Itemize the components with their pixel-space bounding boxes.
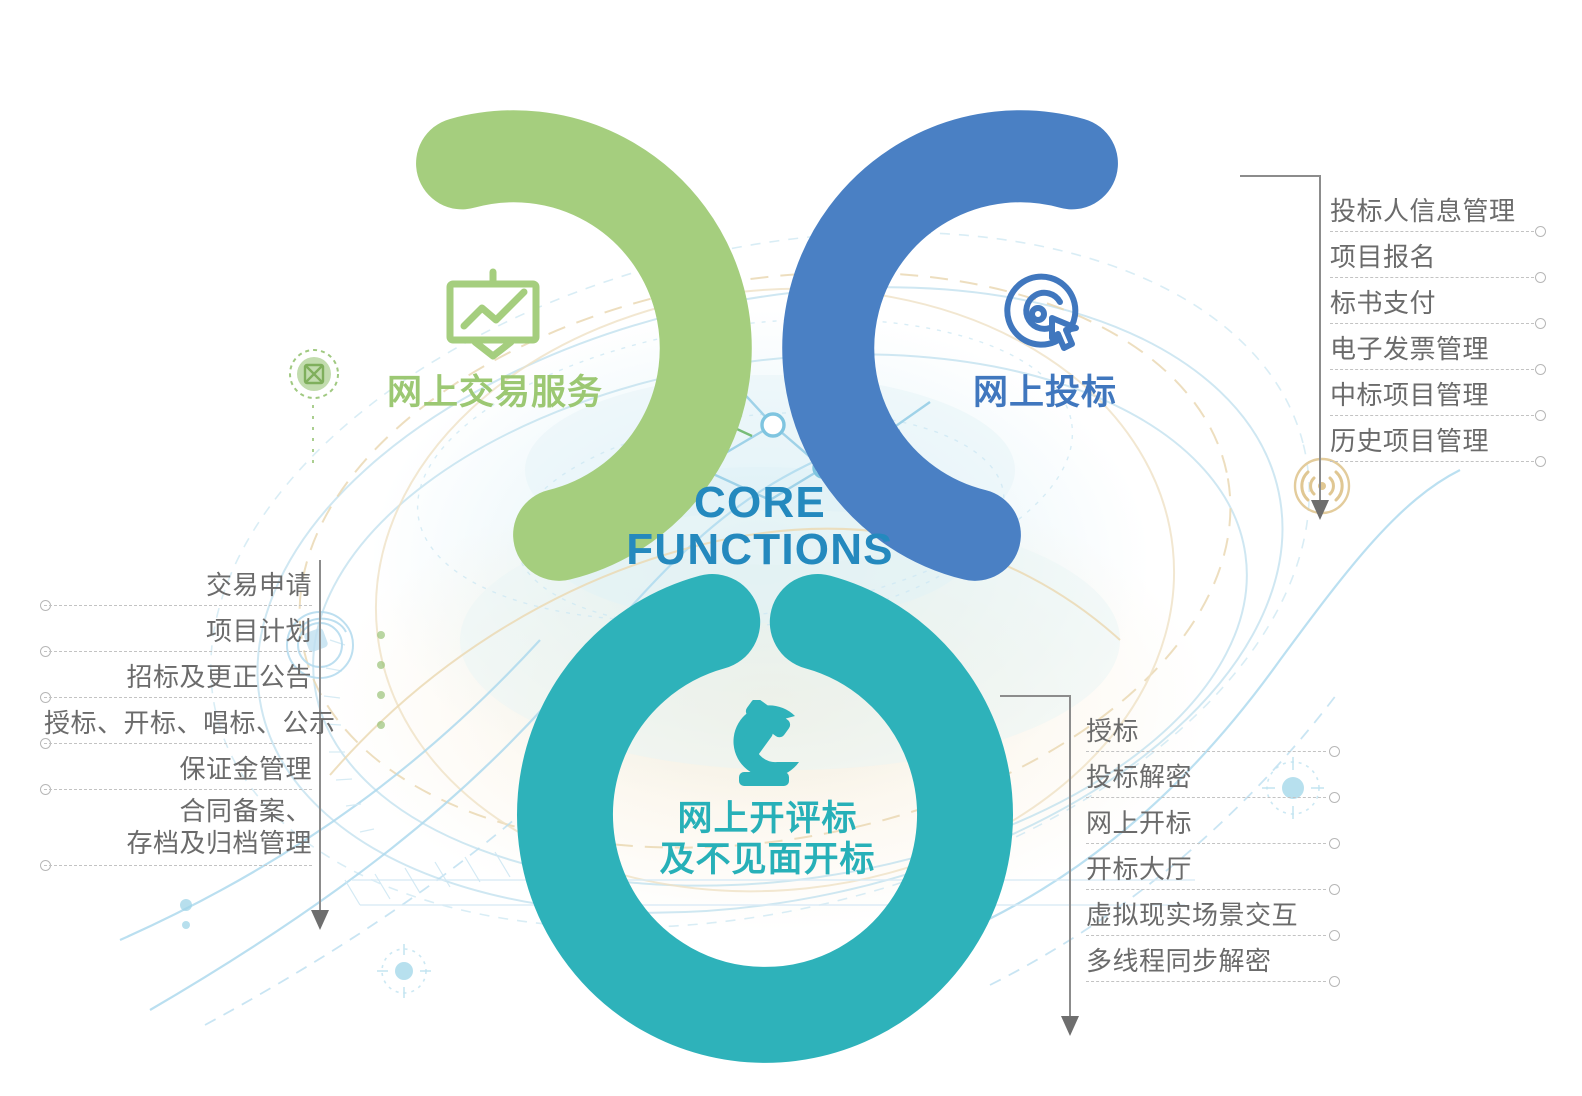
gavel-icon <box>713 700 813 794</box>
list-item[interactable]: 合同备案、存档及归档管理 <box>44 790 312 866</box>
list-item-label: 投标人信息管理 <box>1330 191 1534 228</box>
node-label-online-bidding: 网上投标 <box>920 372 1170 413</box>
list-item[interactable]: 授标 <box>1086 706 1326 752</box>
list-item-endpoint <box>1329 930 1340 941</box>
list-item-endpoint <box>1535 272 1546 283</box>
list-item[interactable]: 中标项目管理 <box>1330 370 1534 416</box>
list-item-endpoint <box>40 860 51 871</box>
list-item-label: 虚拟现实场景交互 <box>1086 895 1326 932</box>
list-item-label: 网上开标 <box>1086 803 1326 840</box>
list-item[interactable]: 电子发票管理 <box>1330 324 1534 370</box>
node-label-online-trade-service: 网上交易服务 <box>350 372 640 413</box>
list-item-label: 项目计划 <box>44 611 312 648</box>
list-item-endpoint <box>1329 976 1340 987</box>
node-label-text: 网上投标 <box>920 372 1170 413</box>
core-functions-title: CORE FUNCTIONS <box>560 480 960 573</box>
list-item[interactable]: 交易申请 <box>44 560 312 606</box>
feature-list-bid-opening: 授标 投标解密 网上开标 开标大厅 虚拟现实场景交互 多线程同步解密 <box>1086 706 1326 982</box>
list-item[interactable]: 多线程同步解密 <box>1086 936 1326 982</box>
core-title-line1: CORE <box>560 480 960 527</box>
list-item-endpoint <box>1329 884 1340 895</box>
list-item[interactable]: 项目报名 <box>1330 232 1534 278</box>
list-item-endpoint <box>1535 318 1546 329</box>
list-item[interactable]: 授标、开标、唱标、公示 <box>44 698 312 744</box>
list-item-label: 合同备案、存档及归档管理 <box>44 796 312 859</box>
list-item-endpoint <box>1329 746 1340 757</box>
node-label-text: 网上交易服务 <box>350 372 640 413</box>
list-item-label: 电子发票管理 <box>1330 329 1534 366</box>
list-item[interactable]: 开标大厅 <box>1086 844 1326 890</box>
list-item-label: 投标解密 <box>1086 757 1326 794</box>
list-item[interactable]: 项目计划 <box>44 606 312 652</box>
list-item-endpoint <box>1535 364 1546 375</box>
list-item-label: 标书支付 <box>1330 283 1534 320</box>
diagram-canvas: 网上交易服务 网上投标 网上开评标 及不见面开标 CORE FUNCTIONS <box>0 0 1582 1096</box>
list-item-label: 授标、开标、唱标、公示 <box>44 703 312 740</box>
list-item[interactable]: 标书支付 <box>1330 278 1534 324</box>
list-item-label: 历史项目管理 <box>1330 421 1534 458</box>
list-item-label: 项目报名 <box>1330 237 1534 274</box>
grid-badge-icon <box>288 348 340 400</box>
node-label-online-bid-opening: 网上开评标 及不见面开标 <box>625 798 910 881</box>
list-item-endpoint <box>1535 226 1546 237</box>
list-item-label: 开标大厅 <box>1086 849 1326 886</box>
list-item-endpoint <box>1329 792 1340 803</box>
list-item[interactable]: 保证金管理 <box>44 744 312 790</box>
list-item[interactable]: 投标人信息管理 <box>1330 186 1534 232</box>
core-title-line2: FUNCTIONS <box>560 527 960 574</box>
list-item-label: 招标及更正公告 <box>44 657 312 694</box>
list-item-label: 多线程同步解密 <box>1086 941 1326 978</box>
list-item[interactable]: 网上开标 <box>1086 798 1326 844</box>
list-item-label: 保证金管理 <box>44 749 312 786</box>
list-item-label: 中标项目管理 <box>1330 375 1534 412</box>
list-item[interactable]: 历史项目管理 <box>1330 416 1534 462</box>
list-item-label: 交易申请 <box>44 565 312 602</box>
list-item-label: 授标 <box>1086 711 1326 748</box>
list-item[interactable]: 虚拟现实场景交互 <box>1086 890 1326 936</box>
presentation-chart-icon <box>440 268 546 360</box>
click-target-icon <box>996 272 1088 360</box>
node-label-text-line2: 及不见面开标 <box>625 839 910 880</box>
broadcast-signal-icon <box>1292 456 1352 516</box>
list-item[interactable]: 投标解密 <box>1086 752 1326 798</box>
list-item-endpoint <box>1329 838 1340 849</box>
feature-list-trade-service: 交易申请 项目计划 招标及更正公告 授标、开标、唱标、公示 保证金管理 合同备案… <box>44 560 312 866</box>
feature-list-bidding: 投标人信息管理 项目报名 标书支付 电子发票管理 中标项目管理 历史项目管理 <box>1330 186 1534 462</box>
list-item-endpoint <box>1535 456 1546 467</box>
list-item[interactable]: 招标及更正公告 <box>44 652 312 698</box>
node-label-text-line1: 网上开评标 <box>625 798 910 839</box>
list-item-endpoint <box>1535 410 1546 421</box>
